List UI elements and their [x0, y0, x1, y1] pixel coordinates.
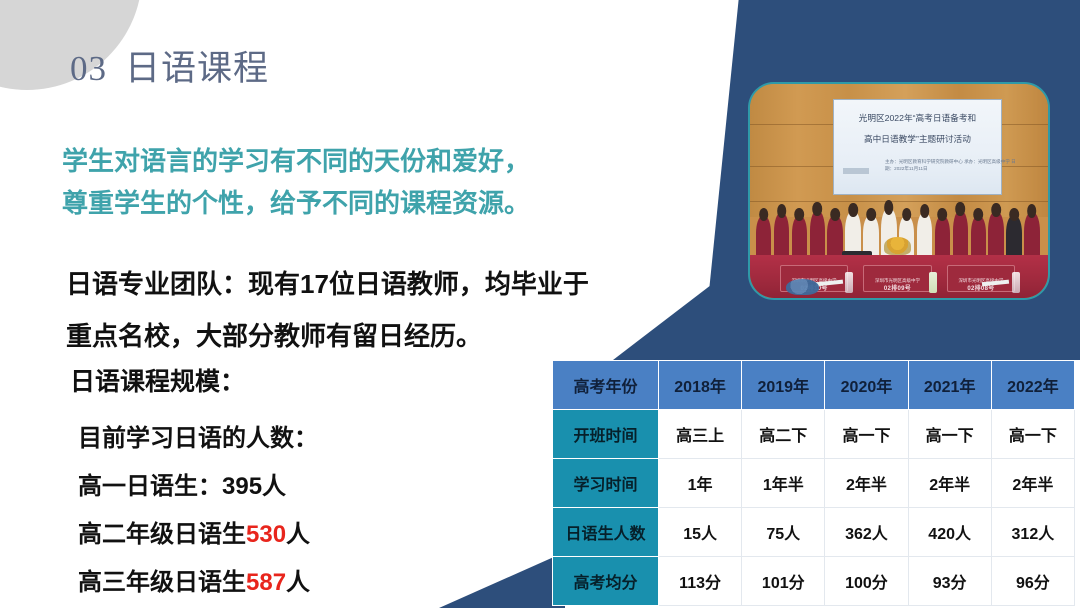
screen-title-line-1: 光明区2022年“高考日语备考和: [804, 113, 1032, 127]
table-cell: 312人: [991, 508, 1074, 557]
table-cell: 15人: [659, 508, 742, 557]
page-title-text: 日语课程: [125, 49, 269, 88]
photo-microphone-cluster: [786, 279, 819, 295]
screen-subtext: 主办：光明区教育科学研究院教研中心 承办：光明区高级中学 日期：2022年11月…: [885, 159, 1020, 173]
page-title-number: 03: [70, 49, 107, 88]
list-item: 高二年级日语生530人: [78, 511, 318, 559]
table-cell: 高一下: [908, 410, 991, 459]
stat-highlight: 530: [246, 521, 286, 548]
table-row-header: 高考均分: [553, 557, 659, 606]
body-paragraph: 日语专业团队：现有17位日语教师，均毕业于 重点名校，大部分教师有留日经历。: [66, 258, 589, 362]
stat-text: 目前学习日语的人数：: [78, 425, 318, 452]
table-cell: 高二下: [742, 410, 825, 459]
table-col-header: 高考年份: [553, 361, 659, 410]
scale-heading: 日语课程规模：: [70, 362, 245, 398]
group-photo: 光明区2022年“高考日语备考和 高中日语教学”主题研讨活动 主办：光明区教育科…: [748, 82, 1050, 300]
table-cell: 高一下: [825, 410, 908, 459]
table-cell: 100分: [825, 557, 908, 606]
stat-text: 高三年级日语生: [78, 569, 246, 596]
photo-table-card: 深圳市光明区高级中学 02排09号: [863, 265, 932, 292]
table-col-header: 2021年: [908, 361, 991, 410]
list-item: 高三年级日语生587人: [78, 559, 318, 607]
stat-suffix: 人: [286, 521, 310, 548]
card-school: 深圳市光明区高级中学: [875, 278, 920, 283]
list-item: 目前学习日语的人数：: [78, 415, 318, 463]
table-col-header: 2020年: [825, 361, 908, 410]
table-cell: 113分: [659, 557, 742, 606]
page-title: 03日语课程: [70, 40, 269, 91]
card-seat: 02排08号: [948, 285, 1015, 292]
table-cell: 2年半: [991, 459, 1074, 508]
table-cell: 2年半: [825, 459, 908, 508]
table-cell: 高三上: [659, 410, 742, 459]
screen-title-line-2: 高中日语教学”主题研讨活动: [804, 134, 1032, 148]
table-cell: 2年半: [908, 459, 991, 508]
decorative-navy-wedge: [430, 552, 565, 608]
table-row-header: 开班时间: [553, 410, 659, 459]
japanese-course-table: 高考年份 2018年 2019年 2020年 2021年 2022年 开班时间 …: [552, 360, 1075, 606]
list-item: 高一日语生：395人: [78, 463, 318, 511]
body-line-2: 重点名校，大部分教师有留日经历。: [66, 310, 589, 362]
table-cell: 362人: [825, 508, 908, 557]
stat-suffix: 人: [286, 569, 310, 596]
table-row: 开班时间 高三上 高二下 高一下 高一下 高一下: [553, 410, 1075, 459]
table-row-header: 日语生人数: [553, 508, 659, 557]
table-cell: 101分: [742, 557, 825, 606]
table-cell: 1年半: [742, 459, 825, 508]
screen-logo-block: [843, 168, 870, 175]
lead-line-1: 学生对语言的学习有不同的天份和爱好，: [62, 140, 530, 182]
table-cell: 420人: [908, 508, 991, 557]
table-header-row: 高考年份 2018年 2019年 2020年 2021年 2022年: [553, 361, 1075, 410]
table-cell: 96分: [991, 557, 1074, 606]
photo-water-bottle: [1012, 272, 1020, 293]
photo-water-bottle: [929, 272, 937, 293]
table-col-header: 2022年: [991, 361, 1074, 410]
photo-water-bottle: [845, 272, 853, 293]
photo-flower-bouquet: [884, 237, 911, 255]
stat-text: 高二年级日语生: [78, 521, 246, 548]
stat-highlight: 587: [246, 569, 286, 596]
photo-front-tables: 深圳市光明区高级中学 02排10号 深圳市光明区高级中学 02排09号 深圳市光…: [750, 255, 1048, 298]
lead-line-2: 尊重学生的个性，给予不同的课程资源。: [62, 182, 530, 224]
table-cell: 高一下: [991, 410, 1074, 459]
table-col-header: 2018年: [659, 361, 742, 410]
table-row-header: 学习时间: [553, 459, 659, 508]
stats-list: 目前学习日语的人数： 高一日语生：395人 高二年级日语生530人 高三年级日语…: [78, 415, 318, 607]
table-cell: 93分: [908, 557, 991, 606]
table-row: 高考均分 113分 101分 100分 93分 96分: [553, 557, 1075, 606]
table-row: 日语生人数 15人 75人 362人 420人 312人: [553, 508, 1075, 557]
card-seat: 02排09号: [864, 285, 931, 292]
lead-paragraph: 学生对语言的学习有不同的天份和爱好， 尊重学生的个性，给予不同的课程资源。: [62, 140, 530, 224]
table-cell: 1年: [659, 459, 742, 508]
photo-people-row: [750, 204, 1048, 260]
table-cell: 75人: [742, 508, 825, 557]
table-col-header: 2019年: [742, 361, 825, 410]
slide-canvas: 03日语课程 学生对语言的学习有不同的天份和爱好， 尊重学生的个性，给予不同的课…: [0, 0, 1080, 608]
photo-projection-screen: 光明区2022年“高考日语备考和 高中日语教学”主题研讨活动 主办：光明区教育科…: [833, 99, 1002, 195]
stat-text: 高一日语生：395人: [78, 473, 286, 500]
photo-table-card: 深圳市光明区高级中学 02排08号: [947, 265, 1016, 292]
body-line-1: 日语专业团队：现有17位日语教师，均毕业于: [66, 258, 589, 310]
table-row: 学习时间 1年 1年半 2年半 2年半 2年半: [553, 459, 1075, 508]
